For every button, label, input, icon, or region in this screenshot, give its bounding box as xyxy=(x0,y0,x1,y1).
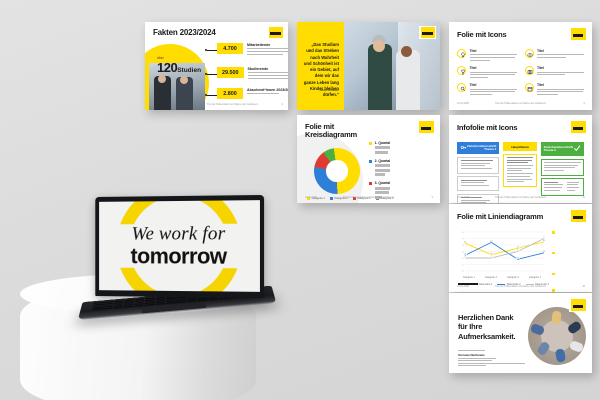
slide-title: Herzlichen Dank für Ihre Aufmerksamkeit. xyxy=(458,313,515,341)
bullet-item xyxy=(552,288,585,292)
column-header-label: Zwischenüberschrift Thema 2 xyxy=(544,146,573,153)
slide-title: Folie mit Liniendiagramm xyxy=(457,213,543,221)
svg-text:4.3: 4.3 xyxy=(464,241,466,243)
slide-date: 01.01.2025 xyxy=(457,196,469,199)
svg-text:1.8: 1.8 xyxy=(516,258,518,260)
contact-block: Vorname Nachname xyxy=(458,350,532,368)
fact-value: 4.700 xyxy=(217,43,243,54)
svg-text:2: 2 xyxy=(465,256,466,258)
check-icon xyxy=(573,144,581,154)
key-icon xyxy=(460,144,467,152)
svg-text:0: 0 xyxy=(462,271,464,273)
info-column-blue: Zwischenüberschrift Thema 1 xyxy=(457,142,499,203)
column-box xyxy=(541,178,584,195)
chart-bullet-list xyxy=(552,230,585,292)
bullet-item xyxy=(552,230,585,248)
book-icon xyxy=(525,66,534,75)
icon-item: Titel xyxy=(457,66,517,79)
slide-date: 01.01.2025 xyxy=(457,285,469,288)
fact-heading: Studierende xyxy=(248,67,289,71)
slide-thumbnail-infofolie[interactable]: Infofolie mit Icons Zwischenüberschrift … xyxy=(449,115,592,203)
slide-page-number: 11 xyxy=(583,196,585,199)
slide-footer: Titel der Präsentation und Name des Verf… xyxy=(495,102,546,105)
svg-text:3: 3 xyxy=(517,250,518,252)
fact-heading: Mitarbeitende xyxy=(247,43,288,47)
info-column-yellow: Hauptthema xyxy=(503,142,536,203)
studien-counter: über 120Studien xyxy=(157,56,201,77)
x-tick: Kategorie 3 xyxy=(507,277,519,279)
svg-text:4: 4 xyxy=(462,245,464,247)
bullet-heading: 2. Quartal xyxy=(375,159,391,163)
svg-text:2.4: 2.4 xyxy=(464,254,466,256)
slide-thumbnail-icons[interactable]: Folie mit Icons Titel Ti xyxy=(449,22,592,110)
donut-chart xyxy=(314,148,360,194)
icon-item-heading: Titel xyxy=(470,66,517,70)
slogan-line-1: We work for xyxy=(99,224,260,244)
slide-page-number: 6 xyxy=(584,102,585,105)
slide-thumbnail-dank[interactable]: Herzlichen Dank für Ihre Aufmerksamkeit.… xyxy=(449,293,592,373)
fact-value: 2.800 xyxy=(217,88,243,99)
column-box xyxy=(503,154,536,188)
icon-item-heading: Titel xyxy=(470,49,517,53)
bullet-item xyxy=(552,251,585,269)
fact-row: 2.800 Absolvent*innen 2023/2024 xyxy=(217,88,288,99)
slide-footer: Titel der Präsentation und Name des Verf… xyxy=(495,285,546,288)
svg-text:5: 5 xyxy=(544,237,545,239)
column-header: Zwischenüberschrift Thema 2 xyxy=(541,142,584,156)
slide-page-number: 9 xyxy=(432,196,433,199)
slide-date: 01.01.2025 xyxy=(457,102,469,105)
x-tick: Kategorie 1 xyxy=(463,277,475,279)
column-box xyxy=(457,157,499,174)
slide-title: Fakten 2023/2024 xyxy=(153,29,216,38)
svg-text:1: 1 xyxy=(462,264,464,266)
slide-thumbnail-kreisdiagramm[interactable]: Folie mit Kreisdiagramm Kategorie 1 Kate… xyxy=(297,115,440,203)
info-column-green: Zwischenüberschrift Thema 2 xyxy=(541,142,584,203)
icon-item-heading: Titel xyxy=(537,83,584,87)
trophy-icon xyxy=(457,66,466,75)
line-chart: 65432104.32.53.54.52.44.41.82.82235 xyxy=(458,230,546,276)
slide-footer: Titel der Präsentation und Name des Verf… xyxy=(207,103,258,106)
column-header: Hauptthema xyxy=(503,142,536,151)
column-header: Zwischenüberschrift Thema 1 xyxy=(457,142,499,154)
icon-item-heading: Titel xyxy=(470,83,517,87)
university-logo xyxy=(417,120,435,134)
calendar-icon xyxy=(525,83,534,92)
counter-word: Studien xyxy=(177,67,201,74)
laptop-screen[interactable]: We work for tomorrow xyxy=(99,200,260,292)
svg-text:2: 2 xyxy=(491,256,492,258)
slide-page-number: 2 xyxy=(282,103,283,106)
slide-thumbnail-fakten[interactable]: Fakten 2023/2024 über 120Studien 4.700 M… xyxy=(145,22,288,110)
column-box xyxy=(541,159,584,176)
slide-title: Folie mit Icons xyxy=(457,31,507,39)
quote-author: Albert Einstein xyxy=(303,88,339,92)
bullet-heading: 1. Quartal xyxy=(375,141,391,145)
title-line-2: für Ihre xyxy=(458,322,482,331)
fact-heading: Absolvent*innen 2023/2024 xyxy=(247,88,288,92)
icon-item-heading: Titel xyxy=(537,66,584,70)
svg-text:2.8: 2.8 xyxy=(543,251,545,253)
bullet-heading: 3. Quartal xyxy=(375,181,391,185)
slide-page-number: 10 xyxy=(582,285,585,288)
svg-text:5: 5 xyxy=(462,238,464,240)
university-logo xyxy=(419,26,436,39)
slogan-line-2: tomorrow xyxy=(99,244,260,268)
counter-number: 120 xyxy=(157,60,177,75)
svg-text:6: 6 xyxy=(462,232,464,234)
slide-title: Folie mit Kreisdiagramm xyxy=(305,123,375,140)
fact-row: 4.700 Mitarbeitende xyxy=(217,43,288,56)
screen-slogan: We work for tomorrow xyxy=(99,224,260,268)
university-logo xyxy=(569,120,587,134)
x-axis-labels: Kategorie 1 Kategorie 2 Kategorie 3 Kate… xyxy=(458,277,546,279)
column-header-label: Hauptthema xyxy=(511,145,528,149)
icon-item: Titel xyxy=(525,83,585,96)
laptop-mockup: We work for tomorrow xyxy=(75,196,271,336)
icon-item: Titel xyxy=(457,49,517,62)
slide-thumbnail-liniendiagramm[interactable]: Folie mit Liniendiagramm 65432104.32.53.… xyxy=(449,204,592,292)
laptop-lid: We work for tomorrow xyxy=(95,195,264,298)
info-columns: Zwischenüberschrift Thema 1 Hauptthema xyxy=(457,142,584,203)
bullet-item xyxy=(552,272,585,286)
bullet-item: 1. Quartal xyxy=(369,141,433,156)
column-box xyxy=(457,176,499,191)
icon-grid: Titel Titel xyxy=(457,49,584,97)
x-tick: Kategorie 2 xyxy=(485,277,497,279)
lightbulb-icon xyxy=(457,49,466,58)
mockup-scene: Fakten 2023/2024 über 120Studien 4.700 M… xyxy=(0,0,600,400)
icon-item: Titel xyxy=(525,49,585,62)
slide-footer: Titel der Präsentation und Name des Verf… xyxy=(495,196,546,199)
fact-row: 29.500 Studierende xyxy=(217,67,288,80)
team-photo xyxy=(528,307,586,365)
slide-title: Infofolie mit Icons xyxy=(457,124,517,132)
slide-date: 01.01.2025 xyxy=(305,196,317,199)
svg-text:4.4: 4.4 xyxy=(490,241,492,243)
icon-item-heading: Titel xyxy=(537,49,584,53)
chart-bullet-list: 1. Quartal 2. Quartal 3. Quartal 4. Quar… xyxy=(369,141,433,203)
university-logo xyxy=(569,27,587,41)
column-header-label: Zwischenüberschrift Thema 1 xyxy=(467,145,496,152)
contact-name: Vorname Nachname xyxy=(458,353,532,357)
eye-icon xyxy=(525,49,534,58)
svg-text:4.5: 4.5 xyxy=(543,240,545,242)
university-logo xyxy=(569,209,587,223)
slide-footer: Titel der Präsentation und Name des Verf… xyxy=(343,196,394,199)
university-logo xyxy=(569,298,587,312)
svg-text:3.5: 3.5 xyxy=(516,246,518,248)
x-tick: Kategorie 4 xyxy=(529,277,541,279)
icon-item: Titel xyxy=(525,66,585,79)
university-logo xyxy=(267,26,284,39)
slide-thumbnail-zitat[interactable]: „Das Studium und das Streben nach Wahrhe… xyxy=(297,22,440,110)
svg-text:2.5: 2.5 xyxy=(490,253,492,255)
fact-value: 29.500 xyxy=(217,67,244,78)
title-line-3: Aufmerksamkeit. xyxy=(458,332,515,341)
icon-item: Titel xyxy=(457,83,517,96)
bullet-item: 2. Quartal xyxy=(369,159,433,178)
title-line-1: Herzlichen Dank xyxy=(458,313,513,322)
magnifier-icon xyxy=(457,83,466,92)
